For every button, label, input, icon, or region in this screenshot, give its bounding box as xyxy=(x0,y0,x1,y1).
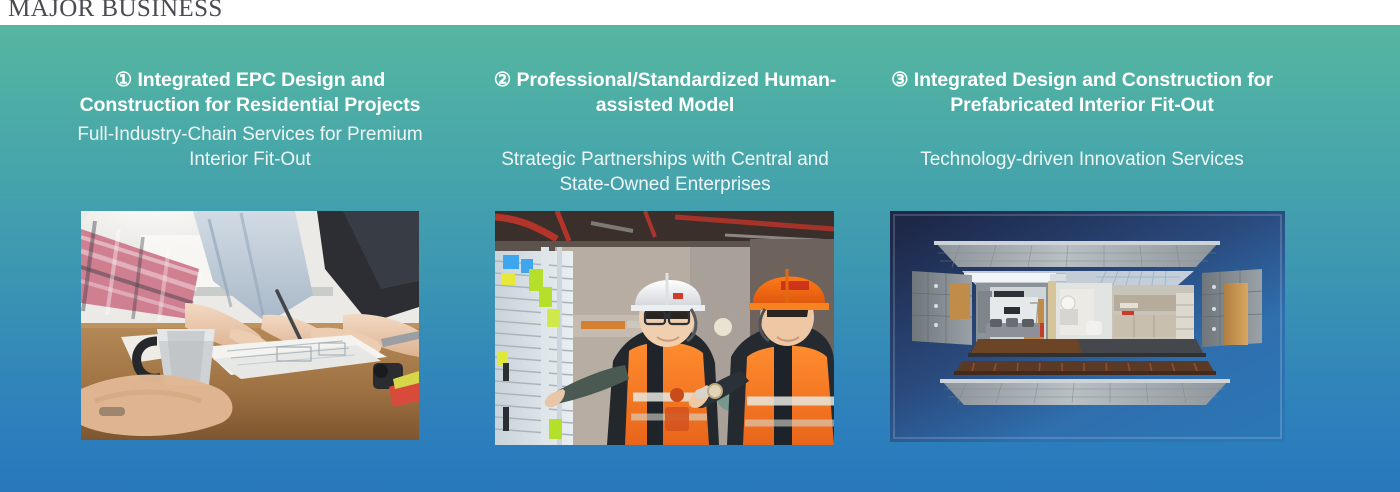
column-1-title: ① Integrated EPC Design and Construction… xyxy=(62,25,438,118)
major-business-slide: MAJOR BUSINESS ① Integrated EPC Design a… xyxy=(0,0,1400,492)
header-band: MAJOR BUSINESS xyxy=(0,0,1400,25)
team-reviewing-blueprints-photo xyxy=(81,211,419,440)
construction-workers-inspection-photo xyxy=(495,211,834,445)
column-2-subtitle: Strategic Partnerships with Central and … xyxy=(477,118,853,197)
column-2-title: ② Professional/Standardized Human-assist… xyxy=(477,25,853,118)
column-3-title: ③ Integrated Design and Construction for… xyxy=(872,25,1292,118)
page-title: MAJOR BUSINESS xyxy=(8,0,223,24)
prefabricated-interior-render-photo xyxy=(890,211,1285,442)
column-1-subtitle: Full-Industry-Chain Services for Premium… xyxy=(62,118,438,172)
column-3-subtitle: Technology-driven Innovation Services xyxy=(872,118,1292,172)
